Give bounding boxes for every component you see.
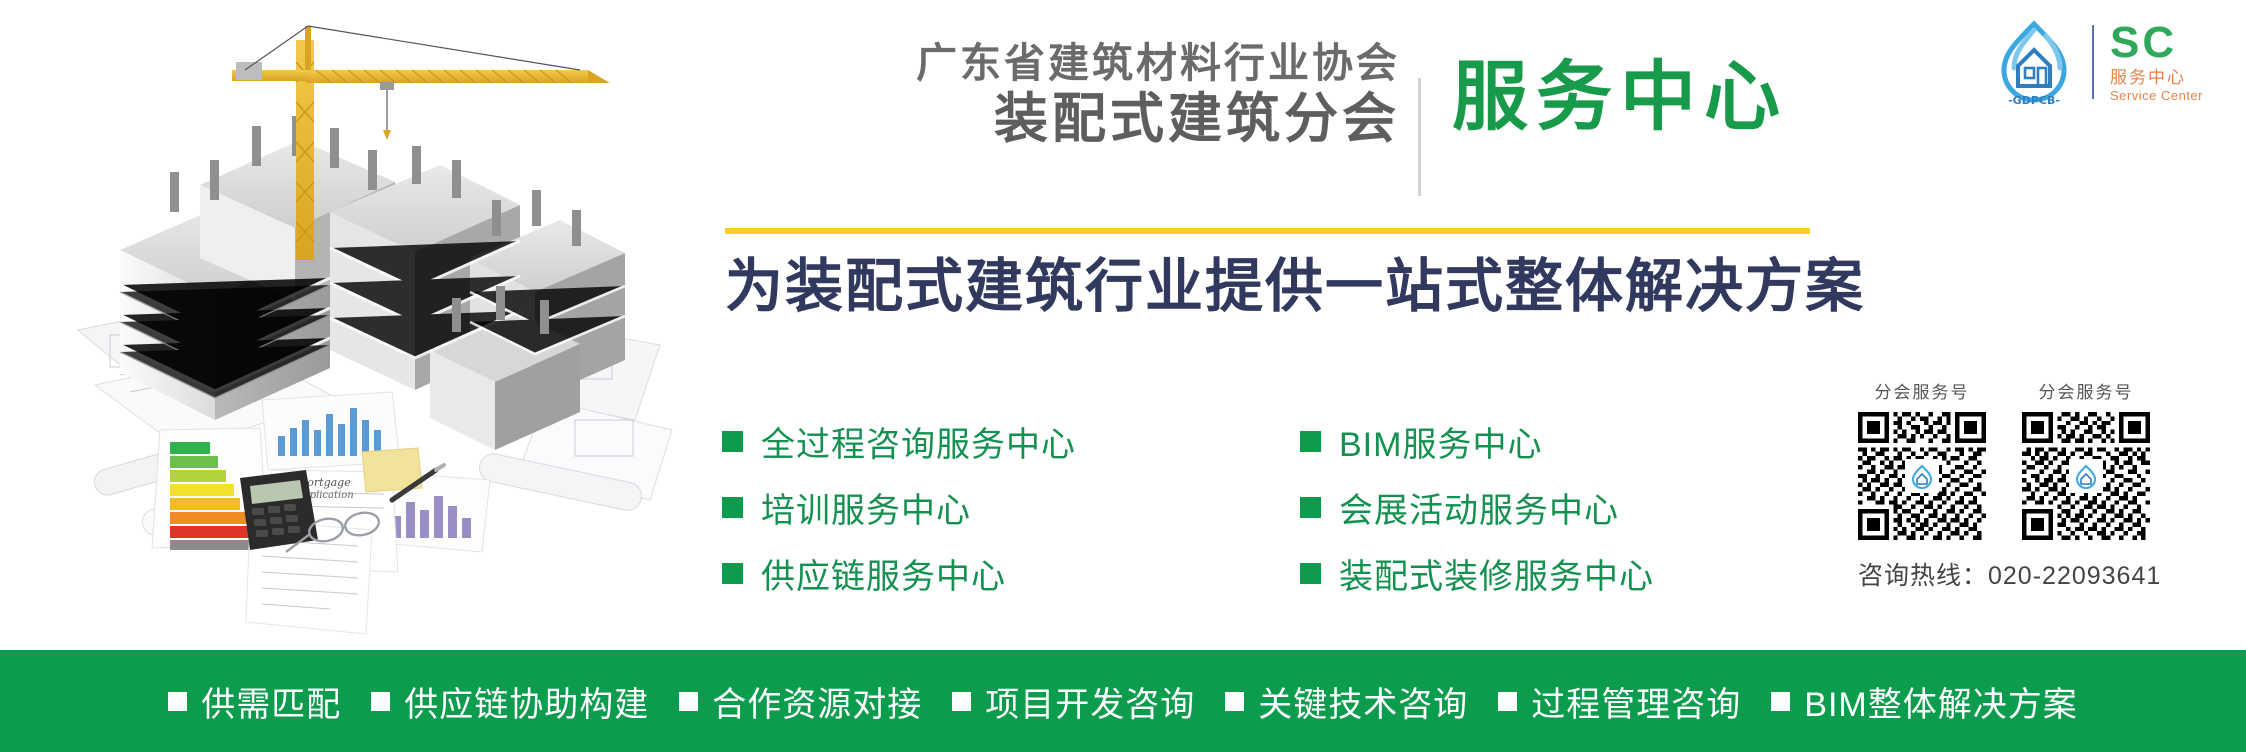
association-name-line2: 装配式建筑分会 [800,88,1400,151]
square-bullet-icon [1498,692,1517,711]
footer-item[interactable]: 供应链协助构建 [371,677,649,726]
sc-initials: SC [2110,21,2177,64]
square-bullet-icon [168,692,187,711]
construction-illustration: Mortgage Application [0,0,680,660]
footer-service-bar: 供需匹配 供应链协助构建 合作资源对接 项目开发咨询 关键技术咨询 过程管理咨询 [0,650,2246,752]
square-bullet-icon [952,692,971,711]
qr-cell: 分会服务号 [1858,378,1986,540]
footer-item-label: 过程管理咨询 [1531,677,1741,726]
service-item-label: 供应链服务中心 [761,549,1006,598]
footer-item[interactable]: 合作资源对接 [679,677,922,726]
square-bullet-icon [722,497,743,518]
footer-item-label: 关键技术咨询 [1258,677,1468,726]
square-bullet-icon [722,563,743,584]
qr-center-logo-icon [2069,459,2103,493]
service-item-label: 装配式装修服务中心 [1339,549,1654,598]
promotional-banner: Mortgage Application [0,0,2246,752]
main-slogan: 为装配式建筑行业提供一站式整体解决方案 [725,254,1865,321]
footer-item[interactable]: 供需匹配 [168,677,341,726]
gdpcb-flame-house-icon: -GDPCB- [1988,16,2080,108]
qr-caption: 分会服务号 [2039,378,2134,403]
footer-item[interactable]: BIM整体解决方案 [1771,677,2077,726]
footer-item[interactable]: 关键技术咨询 [1225,677,1468,726]
service-list-left: 全过程咨询服务中心 培训服务中心 供应链服务中心 [722,408,1076,606]
square-bullet-icon [1300,563,1321,584]
service-item[interactable]: BIM服务中心 [1300,408,1654,474]
title-divider [1418,78,1421,196]
footer-item-label: 供需匹配 [201,677,341,726]
square-bullet-icon [1300,497,1321,518]
service-item[interactable]: 供应链服务中心 [722,540,1076,606]
square-bullet-icon [679,692,698,711]
qr-contact-area: 分会服务号 [1858,378,2218,592]
service-item[interactable]: 培训服务中心 [722,474,1076,540]
service-center-title: 服务中心 [1452,60,1788,136]
footer-item-label: BIM整体解决方案 [1804,677,2077,726]
square-bullet-icon [1300,431,1321,452]
hotline-text: 咨询热线：020-22093641 [1858,556,2218,592]
footer-item-label: 合作资源对接 [712,677,922,726]
square-bullet-icon [1771,692,1790,711]
square-bullet-icon [1225,692,1244,711]
qr-code-image[interactable] [1858,412,1986,540]
association-title-block: 广东省建筑材料行业协会 装配式建筑分会 [800,38,1400,151]
service-item-label: 全过程咨询服务中心 [761,417,1076,466]
square-bullet-icon [371,692,390,711]
service-item-label: 会展活动服务中心 [1339,483,1619,532]
footer-item-label: 项目开发咨询 [985,677,1195,726]
sc-chinese-label: 服务中心 [2110,67,2186,88]
qr-center-logo-icon [1905,459,1939,493]
association-name-line1: 广东省建筑材料行业协会 [800,38,1400,88]
service-item[interactable]: 全过程咨询服务中心 [722,408,1076,474]
service-item[interactable]: 装配式装修服务中心 [1300,540,1654,606]
footer-item-label: 供应链协助构建 [404,677,649,726]
organization-logo: -GDPCB- SC 服务中心 Service Center [1988,14,2203,110]
service-list-right: BIM服务中心 会展活动服务中心 装配式装修服务中心 [1300,408,1654,606]
footer-item[interactable]: 过程管理咨询 [1498,677,1741,726]
qr-caption: 分会服务号 [1875,378,1970,403]
logo-divider [2092,25,2094,99]
square-bullet-icon [722,431,743,452]
qr-code-image[interactable] [2022,412,2150,540]
service-item-label: BIM服务中心 [1339,417,1542,466]
qr-cell: 分会服务号 [2022,378,2150,540]
service-item[interactable]: 会展活动服务中心 [1300,474,1654,540]
svg-text:-GDPCB-: -GDPCB- [2008,94,2060,107]
footer-item[interactable]: 项目开发咨询 [952,677,1195,726]
sc-english-label: Service Center [2110,88,2203,104]
gold-divider-rule [725,228,1810,234]
service-item-label: 培训服务中心 [761,483,971,532]
